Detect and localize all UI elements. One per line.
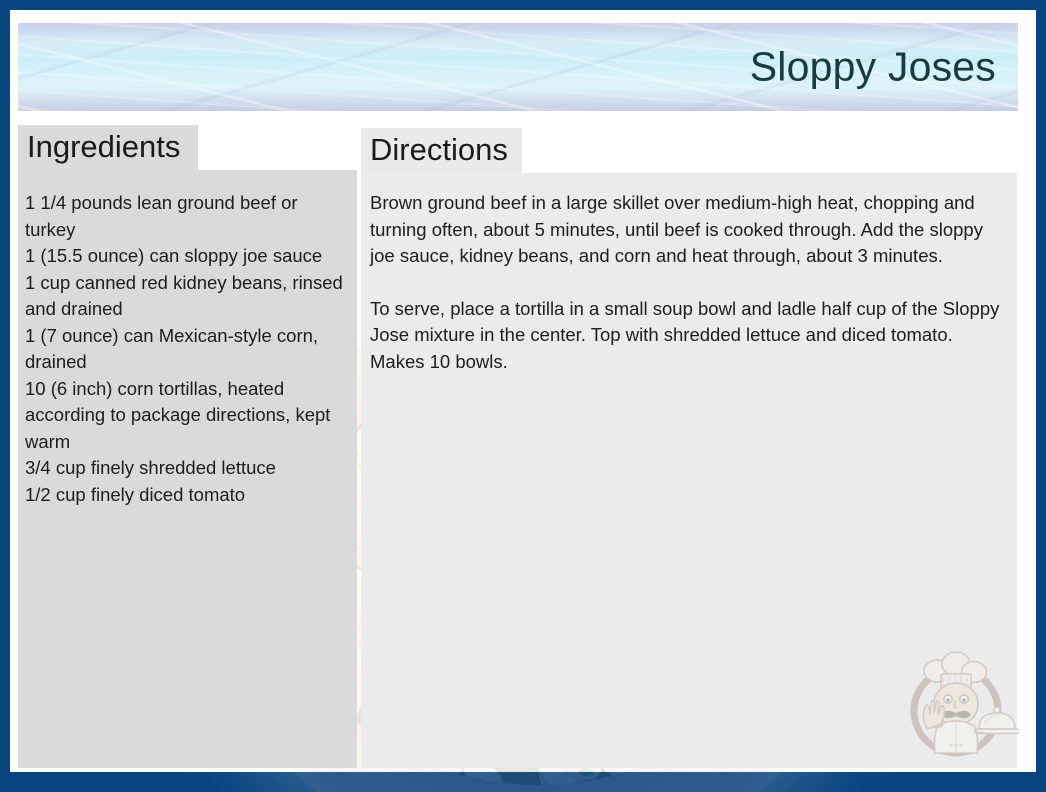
ingredient-item: 1 (7 ounce) can Mexican-style corn, drai… [25, 323, 351, 376]
ingredient-item: 1 (15.5 ounce) can sloppy joe sauce [25, 243, 351, 270]
ingredient-item: 3/4 cup finely shredded lettuce [25, 455, 351, 482]
ingredient-item: 1 cup canned red kidney beans, rinsed an… [25, 270, 351, 323]
ingredient-item: 1 1/4 pounds lean ground beef or turkey [25, 190, 351, 243]
directions-heading: Directions [370, 134, 508, 165]
ingredient-item: 10 (6 inch) corn tortillas, heated accor… [25, 376, 351, 456]
recipe-card: Sloppy Joses Ingredients 1 1/4 pounds le… [0, 0, 1046, 792]
page-title: Sloppy Joses [750, 47, 996, 88]
header-banner: Sloppy Joses [18, 23, 1018, 111]
ingredient-item: 1/2 cup finely diced tomato [25, 482, 351, 509]
directions-text: Brown ground beef in a large skillet ove… [370, 190, 1008, 375]
direction-paragraph: To serve, place a tortilla in a small so… [370, 296, 1008, 376]
ingredients-list: 1 1/4 pounds lean ground beef or turkey1… [25, 190, 351, 508]
direction-paragraph: Brown ground beef in a large skillet ove… [370, 190, 1008, 270]
ingredients-heading: Ingredients [27, 131, 180, 162]
